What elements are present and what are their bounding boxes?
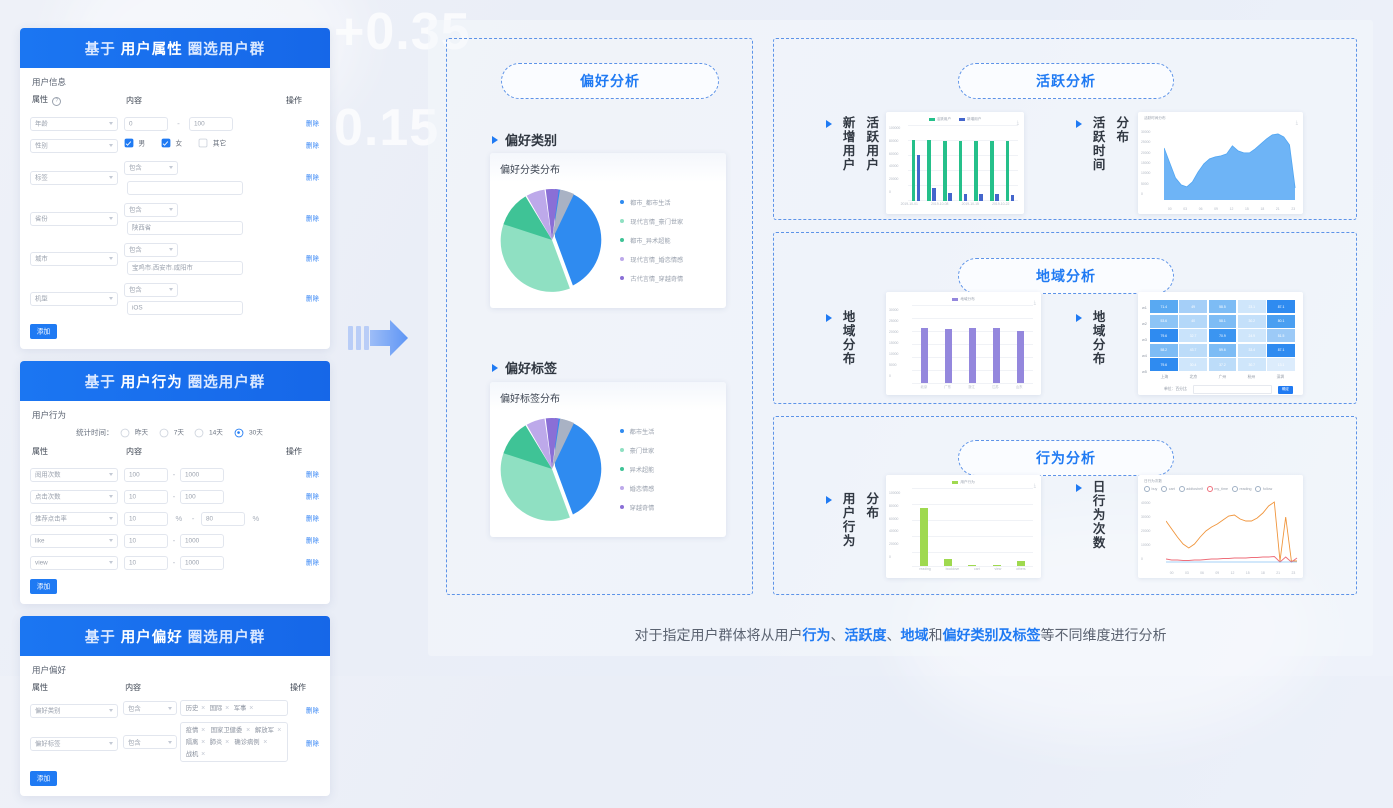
close-icon[interactable]: ×: [225, 739, 229, 746]
close-icon[interactable]: ×: [277, 727, 281, 734]
triangle-right-icon: [826, 496, 832, 504]
card-user-preference: 基于 用户偏好 圈选用户群 用户偏好 属性 内容 操作 偏好类别 包含 历史×: [20, 616, 330, 796]
header-operation: 操作: [284, 94, 320, 111]
section-label-user-info: 用户信息: [32, 76, 320, 88]
close-icon[interactable]: ×: [225, 705, 229, 712]
operator-select[interactable]: 包含: [124, 283, 178, 297]
y-axis-labels: 30000 25000 20000 15000 10000 5000 0: [1141, 130, 1150, 196]
table-header-row: 属性 内容 操作: [30, 446, 320, 462]
chart-user-behavior-bar: 用户行为 ⤓ 100000 80000 60000 40000 20000 0 …: [886, 475, 1041, 578]
preference-table: 属性 内容 操作 偏好类别 包含 历史× 国际× 军事× 删除: [30, 682, 320, 764]
table-row: view 10-1000 删除: [30, 550, 320, 572]
chevron-down-icon: [109, 176, 113, 179]
title-suffix: 圈选用户群: [188, 630, 266, 646]
heatmap-range-input[interactable]: [1193, 385, 1272, 394]
download-icon[interactable]: ⤓: [1034, 300, 1036, 306]
heatmap-cell[interactable]: 53.6: [1150, 315, 1178, 328]
heatmap-cell[interactable]: 24.9: [1238, 329, 1266, 342]
vlabel-new-users: 新增用户: [839, 116, 856, 172]
tag-chip[interactable]: 隔离×: [185, 737, 205, 747]
heatmap-cell[interactable]: 51.5: [1267, 329, 1295, 342]
pie-svg: [494, 413, 614, 525]
heatmap-controls: 单位：百分比 确定: [1138, 380, 1303, 394]
card-title-attributes: 基于 用户属性 圈选用户群: [20, 28, 330, 68]
tag-chip[interactable]: 确诊病例×: [233, 737, 267, 747]
range-dash: -: [172, 119, 184, 128]
table-header-row: 属性 ? 内容 操作: [30, 94, 320, 111]
table-row: like 10-1000 删除: [30, 528, 320, 550]
pie-legend: 都市_都市生活 现代言情_豪门世家 都市_异术超能 现代言情_婚恋情感 古代言情…: [614, 197, 685, 283]
close-icon[interactable]: ×: [249, 705, 253, 712]
tag-chip[interactable]: 解放军×: [254, 725, 281, 735]
delete-button[interactable]: 删除: [305, 254, 320, 263]
chevron-down-icon: [109, 517, 113, 520]
card-body-attributes: 用户信息 属性 ? 内容 操作 年龄 0 - 100: [20, 68, 330, 349]
triangle-right-icon: [1076, 314, 1082, 322]
attribute-select-device[interactable]: 机型: [30, 292, 118, 306]
panel-caption: 对于指定用户群体将从用户行为、活跃度、地域和偏好类别及标签等不同维度进行分析: [428, 625, 1373, 645]
y-axis-labels: 40000 30000 20000 10000 0: [1141, 501, 1150, 561]
table-row: 标签 包含 删除: [30, 155, 320, 197]
header-operation: 操作: [288, 682, 320, 698]
close-icon[interactable]: ×: [201, 727, 205, 734]
heatmap-cell[interactable]: 70.9: [1209, 329, 1237, 342]
triangle-right-icon: [1076, 120, 1082, 128]
caption-part-2: 、: [831, 627, 845, 643]
checkbox-box: [199, 139, 208, 148]
triangle-right-icon: [826, 314, 832, 322]
title-prefix: 基于: [85, 630, 116, 646]
x-axis-labels: 0003 0609 1215 1821 23: [1162, 207, 1301, 211]
header-content: 内容: [124, 446, 284, 462]
y-axis-labels: 100000 80000 60000 40000 20000 0: [889, 491, 900, 559]
legend-item[interactable]: 豪门世家: [620, 445, 655, 455]
heatmap-cell[interactable]: 49: [1179, 300, 1207, 313]
operator-select[interactable]: 包含: [123, 701, 177, 715]
heatmap-cell[interactable]: 32.7: [1179, 329, 1207, 342]
chevron-down-icon: [109, 144, 113, 147]
caption-highlight-preference: 偏好类别及标签: [943, 627, 1041, 643]
max-input[interactable]: 100: [180, 490, 224, 504]
table-row: 性别 男 女 其它 删除: [30, 133, 320, 155]
heatmap-cell[interactable]: 79.6: [1150, 329, 1178, 342]
area-svg: [1164, 128, 1296, 200]
heatmap-cell[interactable]: 37.2: [1209, 358, 1237, 371]
vlabel-distribution: 分布: [1113, 116, 1130, 172]
pref-tag-tagbox[interactable]: 疫情× 国家卫健委× 解放军× 隔离× 肺炎× 确诊病例× 战机×: [180, 722, 288, 762]
table-row: 阅用次数 100-1000 删除: [30, 462, 320, 484]
subheading-preference-tag: 偏好标签: [492, 358, 557, 377]
heatmap-unit-label: 单位：百分比: [1164, 387, 1187, 392]
heatmap-cell[interactable]: 40: [1179, 315, 1207, 328]
attribute-select-click-count[interactable]: 点击次数: [30, 490, 118, 504]
card-title-preference: 基于 用户偏好 圈选用户群: [20, 616, 330, 656]
province-value-input[interactable]: 陕西省: [127, 221, 243, 235]
chevron-down-icon: [109, 539, 113, 542]
legend-item[interactable]: 活跃用户: [929, 117, 951, 122]
caption-part-3: 、: [887, 627, 901, 643]
close-icon[interactable]: ×: [263, 739, 267, 746]
right-arrow-icon: [348, 316, 410, 366]
attribute-select-city[interactable]: 城市: [30, 252, 118, 266]
tag-chip[interactable]: 国际×: [209, 703, 229, 713]
heatmap-cell[interactable]: 87.1: [1267, 344, 1295, 357]
delete-button[interactable]: 删除: [305, 514, 320, 523]
attribute-select-tag[interactable]: 标签: [30, 171, 118, 185]
tag-chip[interactable]: 肺炎×: [209, 737, 229, 747]
legend-item[interactable]: 都市生活: [620, 426, 655, 436]
chart-title: 活跃时间分布: [1138, 112, 1303, 121]
tag-chip[interactable]: 国家卫健委×: [209, 725, 250, 735]
download-icon[interactable]: ⤓: [1296, 120, 1298, 126]
tag-chip[interactable]: 历史×: [185, 703, 205, 713]
pill-geo-analysis: 地域分析: [958, 258, 1174, 294]
delete-button[interactable]: 删除: [305, 706, 320, 715]
table-header-row: 属性 内容 操作: [30, 682, 320, 698]
delete-button[interactable]: 删除: [305, 294, 320, 303]
line-chart-legend: buy cart addtoshelf my_time reading foll…: [1138, 484, 1303, 492]
vlabel-geo-distribution: 地域分布: [1089, 310, 1106, 366]
delete-button[interactable]: 删除: [305, 141, 320, 150]
pref-category-tagbox[interactable]: 历史× 国际× 军事×: [180, 700, 288, 716]
table-row: 城市 包含 宝鸡市.西安市.咸阳市 删除: [30, 237, 320, 277]
vlabel-geo-distribution: 地域分布: [839, 310, 856, 366]
card-user-behavior: 基于 用户行为 圈选用户群 用户行为 统计时间： 昨天 7天 14天 30天 属…: [20, 361, 330, 604]
chart-daily-behavior-line: 日行为次数 buy cart addtoshelf my_time readin…: [1138, 475, 1303, 578]
legend-item[interactable]: 地域分布: [952, 297, 974, 302]
legend-item[interactable]: 穿越奇情: [620, 502, 655, 512]
range-dash: -: [168, 558, 180, 567]
heatmap-cell[interactable]: 43.7: [1179, 344, 1207, 357]
attribute-select-read-count[interactable]: 阅用次数: [30, 468, 118, 482]
heatmap-cell[interactable]: 80.1: [1267, 315, 1295, 328]
min-input[interactable]: 10: [124, 534, 168, 548]
header-attribute: 属性: [30, 446, 124, 462]
operator-select[interactable]: 包含: [124, 161, 178, 175]
max-input[interactable]: 1000: [180, 468, 224, 482]
heatmap-y-labels: w1 w2 w3 w4 w5: [1142, 300, 1150, 380]
min-input[interactable]: 10: [124, 512, 168, 526]
chevron-down-icon: [109, 742, 113, 745]
legend-item[interactable]: 都市_异术超能: [620, 235, 685, 245]
close-icon[interactable]: ×: [201, 751, 205, 758]
operator-select[interactable]: 包含: [124, 243, 178, 257]
subheading-text: 偏好标签: [505, 358, 557, 377]
caption-part-1: 对于指定用户群体将从用户: [635, 627, 803, 643]
card-user-attributes: 基于 用户属性 圈选用户群 用户信息 属性 ? 内容 操作 年龄 0: [20, 28, 330, 349]
table-row: 省份 包含 陕西省 删除: [30, 197, 320, 237]
heatmap-cell[interactable]: 79.6: [1150, 358, 1178, 371]
attribute-select-age[interactable]: 年龄: [30, 117, 118, 131]
section-label-user-behavior: 用户行为: [32, 409, 320, 421]
range-dash: -: [168, 470, 180, 479]
delete-button[interactable]: 删除: [305, 536, 320, 545]
card-body-preference: 用户偏好 属性 内容 操作 偏好类别 包含 历史× 国际× 军事×: [20, 656, 330, 796]
caption-part-4: 和: [929, 627, 943, 643]
heatmap-cell[interactable]: 23.1: [1238, 300, 1266, 313]
radio-30days[interactable]: 30天: [234, 427, 264, 438]
operator-select[interactable]: 包含: [123, 735, 177, 749]
header-operation: 操作: [284, 446, 320, 462]
heatmap-cell[interactable]: 33.4: [1238, 344, 1266, 357]
plot-area: [912, 488, 1033, 566]
legend-item[interactable]: buy: [1144, 486, 1157, 492]
chevron-down-icon: [109, 217, 113, 220]
title-suffix: 圈选用户群: [188, 42, 266, 58]
chevron-down-icon: [109, 495, 113, 498]
plot-area: [908, 125, 1018, 201]
chart-title: 偏好标签分布: [490, 382, 726, 411]
table-row: 推荐点击率 10 % - 80 % 删除: [30, 506, 320, 528]
caption-highlight-behavior: 行为: [803, 627, 831, 643]
chevron-down-icon: [109, 561, 113, 564]
section-label-user-preference: 用户偏好: [32, 664, 320, 676]
min-input[interactable]: 100: [124, 468, 168, 482]
heatmap-cell[interactable]: 58.2: [1150, 344, 1178, 357]
caption-highlight-activity: 活跃度: [845, 627, 887, 643]
plot-area: [912, 305, 1033, 383]
heatmap-x-labels: 上海 北京 广州 杭州 深圳: [1150, 371, 1295, 380]
heatmap-grid-wrap: 71.4 49 58.5 23.1 87.1 53.6 40 58.1 30.2…: [1150, 300, 1295, 380]
delete-button[interactable]: 删除: [305, 173, 320, 182]
legend-item[interactable]: addtoshelf: [1179, 486, 1203, 492]
legend-item[interactable]: 用户行为: [952, 480, 974, 485]
range-dash: -: [190, 514, 197, 523]
table-row: 机型 包含 iOS 删除: [30, 277, 320, 317]
line-svg: [1166, 499, 1298, 563]
delete-button[interactable]: 删除: [305, 470, 320, 479]
triangle-right-icon: [826, 120, 832, 128]
radio-dot: [159, 428, 168, 437]
close-icon[interactable]: ×: [246, 727, 250, 734]
operator-select[interactable]: 包含: [124, 203, 178, 217]
title-prefix: 基于: [85, 375, 116, 391]
city-value-input[interactable]: 宝鸡市.西安市.咸阳市: [127, 261, 243, 275]
chevron-down-icon: [109, 709, 113, 712]
heatmap-cell[interactable]: 87.1: [1267, 300, 1295, 313]
chevron-down-icon: [169, 166, 173, 169]
tag-chip[interactable]: 疫情×: [185, 725, 205, 735]
subheading-preference-category: 偏好类别: [492, 130, 557, 149]
heatmap-cell[interactable]: 30.2: [1238, 315, 1266, 328]
card-title-behavior: 基于 用户行为 圈选用户群: [20, 361, 330, 401]
attribute-select-province[interactable]: 省份: [30, 212, 118, 226]
chart-geo-heatmap: w1 w2 w3 w4 w5 71.4 49 58.5 23.1 87.1 53…: [1138, 292, 1303, 395]
percent-unit: %: [175, 514, 182, 523]
pill-behavior-analysis: 行为分析: [958, 440, 1174, 476]
max-input[interactable]: 1000: [180, 556, 224, 570]
checkbox-box: [125, 139, 134, 148]
legend-item[interactable]: reading: [1232, 486, 1252, 492]
time-range-label: 统计时间：: [76, 427, 114, 438]
vlabel-daily-behavior: 日行为次数: [1089, 480, 1106, 550]
delete-button[interactable]: 删除: [305, 492, 320, 501]
range-dash: -: [168, 536, 180, 545]
chevron-down-icon: [109, 473, 113, 476]
y-axis-labels: 100000 80000 60000 40000 20000 0: [889, 126, 900, 194]
triangle-right-icon: [492, 136, 498, 144]
download-icon[interactable]: ⤓: [1034, 483, 1036, 489]
heatmap-cell[interactable]: 59.6: [1209, 344, 1237, 357]
checkbox-other[interactable]: 其它: [198, 138, 227, 149]
chart-legend: 活跃用户 新增用户: [886, 112, 1024, 122]
pie-wrap: 都市生活 豪门世家 异术超能 婚恋情感 穿越奇情: [490, 411, 726, 535]
chart-legend: 地域分布: [886, 292, 1041, 302]
vlabel-active-users: 活跃用户: [863, 116, 880, 172]
question-circle-icon: ?: [52, 97, 61, 106]
chevron-down-icon: [168, 707, 172, 710]
attribute-select-gender[interactable]: 性别: [30, 139, 118, 153]
legend-item[interactable]: 都市_都市生活: [620, 197, 685, 207]
checkbox-male[interactable]: 男: [124, 138, 146, 149]
radio-7days[interactable]: 7天: [159, 427, 185, 438]
left-column: 基于 用户属性 圈选用户群 用户信息 属性 ? 内容 操作 年龄 0: [20, 28, 330, 808]
legend-item[interactable]: my_time: [1207, 486, 1228, 492]
heatmap-confirm-button[interactable]: 确定: [1278, 386, 1293, 394]
chevron-down-icon: [109, 257, 113, 260]
header-content: 内容: [124, 94, 284, 111]
card-body-behavior: 用户行为 统计时间： 昨天 7天 14天 30天 属性 内容 操作 阅用次数 1…: [20, 401, 330, 604]
heatmap-body: w1 w2 w3 w4 w5 71.4 49 58.5 23.1 87.1 53…: [1138, 292, 1303, 380]
radio-dot: [195, 428, 204, 437]
radio-dot: [120, 428, 129, 437]
legend-item[interactable]: cart: [1161, 486, 1175, 492]
behavior-table: 属性 内容 操作 阅用次数 100-1000 删除 点击次数 10-100 删除…: [30, 446, 320, 572]
pie-wrap: 都市_都市生活 现代言情_豪门世家 都市_异术超能 现代言情_婚恋情感 古代言情…: [490, 182, 726, 306]
chart-active-time-area: 活跃时间分布 ⤓ 30000 25000 20000 15000 10000 5…: [1138, 112, 1303, 214]
radio-dot: [235, 428, 244, 437]
x-axis-labels: 0003 0609 1215 1821 23: [1164, 571, 1301, 575]
attribute-select-pref-tag[interactable]: 偏好标签: [30, 737, 118, 751]
heatmap-cell[interactable]: 13.1: [1267, 358, 1295, 371]
attribute-select-ctr[interactable]: 推荐点击率: [30, 512, 118, 526]
delete-button[interactable]: 删除: [305, 214, 320, 223]
header-attribute-text: 属性: [32, 95, 48, 104]
device-value-input[interactable]: iOS: [127, 301, 243, 315]
legend-item[interactable]: 异术超能: [620, 464, 655, 474]
tag-chip[interactable]: 战机×: [185, 749, 205, 759]
subheading-text: 偏好类别: [505, 130, 557, 149]
chevron-down-icon: [169, 248, 173, 251]
checkbox-female[interactable]: 女: [161, 138, 183, 149]
pie-svg: [494, 184, 614, 296]
triangle-right-icon: [1076, 484, 1082, 492]
radio-14days[interactable]: 14天: [194, 427, 224, 438]
y-axis-labels: 30000 25000 20000 15000 10000 5000 0: [889, 308, 898, 378]
legend-item[interactable]: 婚恋情感: [620, 483, 655, 493]
pill-preference-analysis: 偏好分析: [501, 63, 719, 99]
min-input[interactable]: 10: [124, 556, 168, 570]
legend-item[interactable]: follow: [1255, 486, 1272, 492]
chart-preference-category-pie: 偏好分类分布 都市_都市生活 现代言情_豪门世家 都市_异术超能 现代言情_婚恋…: [490, 153, 726, 308]
max-input[interactable]: 1000: [180, 534, 224, 548]
chart-active-new-users-bar: 活跃用户 新增用户 ⤓ 100000 80000 60000 40000 200…: [886, 112, 1024, 214]
range-dash: -: [168, 492, 180, 501]
add-button[interactable]: 添加: [30, 579, 57, 594]
header-attribute: 属性 ?: [30, 94, 124, 111]
tag-value-input[interactable]: [127, 181, 243, 195]
pill-activity-analysis: 活跃分析: [958, 63, 1174, 99]
heatmap-cell[interactable]: 71.4: [1150, 300, 1178, 313]
chevron-down-icon: [169, 288, 173, 291]
checkbox-box: [162, 139, 171, 148]
delete-button[interactable]: 删除: [305, 119, 320, 128]
chevron-down-icon: [169, 208, 173, 211]
table-row: 偏好类别 包含 历史× 国际× 军事× 删除: [30, 698, 320, 720]
caption-highlight-geo: 地域: [901, 627, 929, 643]
chevron-down-icon: [168, 741, 172, 744]
min-input[interactable]: 10: [124, 490, 168, 504]
title-highlight: 用户行为: [121, 375, 183, 391]
header-attribute: 属性: [30, 682, 123, 698]
time-range-radio-group: 统计时间： 昨天 7天 14天 30天: [30, 427, 320, 438]
vlabel-active-time: 活跃时间: [1089, 116, 1106, 172]
table-row: 年龄 0 - 100 删除: [30, 111, 320, 133]
title-highlight: 用户属性: [121, 42, 183, 58]
title-highlight: 用户偏好: [121, 630, 183, 646]
chevron-down-icon: [109, 122, 113, 125]
attribute-select-pref-category[interactable]: 偏好类别: [30, 704, 118, 718]
close-icon[interactable]: ×: [201, 739, 205, 746]
attribute-select-view[interactable]: view: [30, 556, 118, 570]
background-number-2: 0.15: [334, 98, 439, 158]
legend-item[interactable]: 现代言情_豪门世家: [620, 216, 685, 226]
chart-geo-distribution-bar: 地域分布 ⤓ 30000 25000 20000 15000 10000 500…: [886, 292, 1041, 395]
title-prefix: 基于: [85, 42, 116, 58]
heatmap-cell[interactable]: 30.7: [1238, 358, 1266, 371]
chart-legend: 用户行为: [886, 475, 1041, 485]
heatmap-cell[interactable]: 30.4: [1179, 358, 1207, 371]
chart-title: 日行为次数: [1138, 475, 1303, 484]
header-content: 内容: [123, 682, 288, 698]
attributes-table: 属性 ? 内容 操作 年龄 0 - 100 删除 性别: [30, 94, 320, 317]
add-button[interactable]: 添加: [30, 771, 57, 786]
delete-button[interactable]: 删除: [305, 739, 320, 748]
table-row: 偏好标签 包含 疫情× 国家卫健委× 解放军× 隔离× 肺炎× 确诊病例× 战机…: [30, 720, 320, 764]
x-axis-labels: 2019-10-01 2019-10-08 2019-10-15 2019-10…: [886, 201, 1024, 206]
age-max-input[interactable]: 100: [189, 117, 233, 131]
heatmap-grid: 71.4 49 58.5 23.1 87.1 53.6 40 58.1 30.2…: [1150, 300, 1295, 371]
heatmap-cell[interactable]: 58.1: [1209, 315, 1237, 328]
max-input[interactable]: 80: [201, 512, 245, 526]
table-row: 点击次数 10-100 删除: [30, 484, 320, 506]
chevron-down-icon: [109, 297, 113, 300]
attribute-select-like[interactable]: like: [30, 534, 118, 548]
legend-item[interactable]: 新增用户: [959, 117, 981, 122]
legend-item[interactable]: 现代言情_婚恋情感: [620, 254, 685, 264]
radio-yesterday[interactable]: 昨天: [120, 427, 149, 438]
chart-preference-tag-pie: 偏好标签分布 都市生活 豪门世家 异术超能 婚恋情感 穿越奇情: [490, 382, 726, 537]
tag-chip[interactable]: 军事×: [233, 703, 253, 713]
heatmap-cell[interactable]: 58.5: [1209, 300, 1237, 313]
triangle-right-icon: [492, 364, 498, 372]
caption-part-5: 等不同维度进行分析: [1041, 627, 1167, 643]
delete-button[interactable]: 删除: [305, 558, 320, 567]
add-button[interactable]: 添加: [30, 324, 57, 339]
legend-item[interactable]: 古代言情_穿越奇情: [620, 273, 685, 283]
percent-unit: %: [252, 514, 259, 523]
close-icon[interactable]: ×: [201, 705, 205, 712]
pie-legend: 都市生活 豪门世家 异术超能 婚恋情感 穿越奇情: [614, 426, 655, 512]
vlabel-distribution: 分布: [863, 492, 880, 548]
age-min-input[interactable]: 0: [124, 117, 168, 131]
analysis-panel: 偏好分析 活跃分析 地域分析 行为分析 偏好类别 偏好分类分布 都市_都市生活: [428, 20, 1373, 656]
chart-title: 偏好分类分布: [490, 153, 726, 182]
vlabel-user-behavior: 用户行为: [839, 492, 856, 548]
title-suffix: 圈选用户群: [188, 375, 266, 391]
